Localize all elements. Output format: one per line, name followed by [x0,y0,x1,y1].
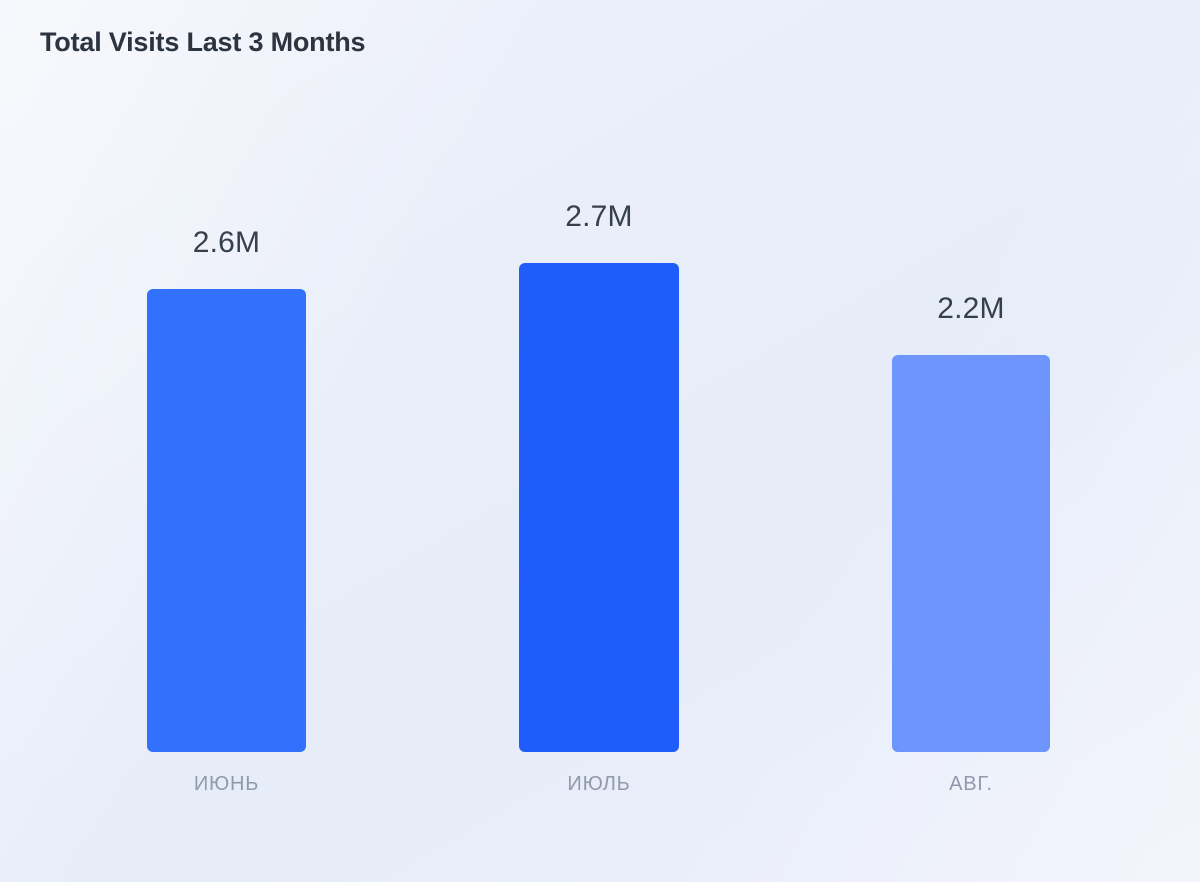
bar-value-label: 2.2M [937,292,1005,326]
visits-chart-widget: Total Visits Last 3 Months 2.6M ИЮНЬ 2.7… [0,0,1200,882]
bar-category-label: ИЮЛЬ [567,773,630,796]
bar-group-june: 2.6M ИЮНЬ [147,0,306,882]
bar-group-august: 2.2M АВГ. [892,0,1050,882]
chart-plot-area: 2.6M ИЮНЬ 2.7M ИЮЛЬ 2.2M АВГ. [0,0,1200,882]
bar-group-july: 2.7M ИЮЛЬ [519,0,679,882]
bar-category-label: ИЮНЬ [194,773,259,796]
bar-category-label: АВГ. [949,773,993,796]
bar-rect-june[interactable] [147,289,306,752]
bar-rect-august[interactable] [892,355,1050,752]
bar-value-label: 2.6M [193,226,261,260]
bar-rect-july[interactable] [519,263,679,752]
bar-value-label: 2.7M [565,200,633,234]
